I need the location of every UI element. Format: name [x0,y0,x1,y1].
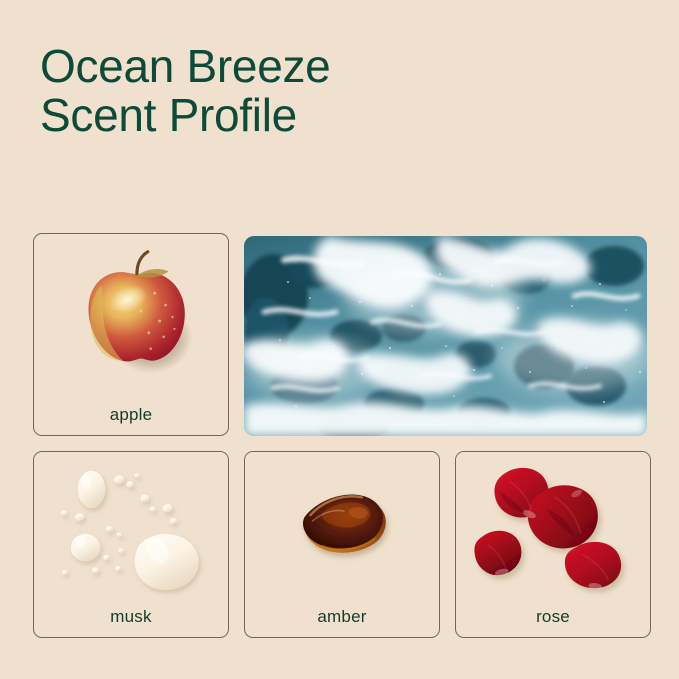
scent-card-label: musk [34,607,228,627]
water-droplets-photo [34,452,228,603]
ocean-foam-photo [244,236,647,436]
scent-card-label: apple [34,405,228,425]
page-title: Ocean Breeze Scent Profile [40,42,600,140]
scent-card-rose[interactable]: rose [455,451,651,638]
page-title-line-1: Ocean Breeze [40,42,600,91]
scent-card-musk[interactable]: musk [33,451,229,638]
poster-canvas: Ocean Breeze Scent Profile [0,0,679,679]
scent-card-label: amber [245,607,439,627]
page-title-line-2: Scent Profile [40,91,600,140]
scent-card-amber[interactable]: amber [244,451,440,638]
scent-card-ocean[interactable] [244,236,647,436]
rose-petals-photo [456,452,650,603]
scent-card-apple[interactable]: apple [33,233,229,436]
amber-stone-photo [245,452,439,603]
scent-card-label: rose [456,607,650,627]
apple-photo [34,234,228,401]
